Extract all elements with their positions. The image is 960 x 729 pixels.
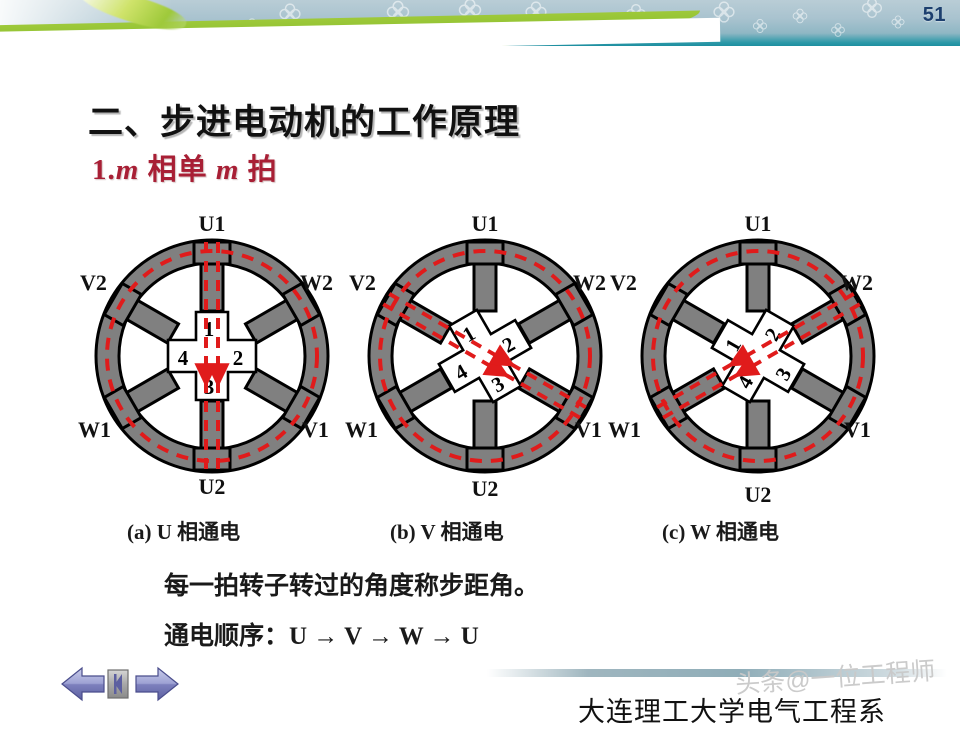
stator-label-u2: U2 (472, 476, 499, 501)
rotor-tooth-2: 2 (233, 346, 244, 370)
caption-c: (c) W 相通电 (662, 516, 779, 546)
stator-label-u2: U2 (745, 482, 772, 506)
motor-diagram-c: 1 2 3 4 U1 U2 V2 W2 W1 V1 (608, 206, 908, 506)
motor-diagram-b: 1 2 3 4 U1 U2 V2 W2 W1 V1 (335, 206, 635, 506)
stator-label-u1: U1 (199, 211, 226, 236)
next-slide-icon[interactable] (136, 668, 178, 700)
stator-label-w2: W2 (840, 270, 873, 295)
body-line-step-angle: 每一拍转子转过的角度称步距角。 (164, 566, 539, 602)
page-number: 51 (923, 4, 946, 27)
stator-label-v1: V1 (844, 417, 871, 442)
stator-label-w1: W1 (608, 417, 641, 442)
stator-label-v1: V1 (575, 417, 602, 442)
stator-label-u1: U1 (745, 211, 772, 236)
stator-label-w2: W2 (300, 270, 333, 295)
body-line-sequence: 通电顺序：U → V → W → U (164, 616, 479, 652)
stator-label-w1: W1 (345, 417, 378, 442)
slide-navigation[interactable] (60, 662, 180, 706)
figure-captions: (a) U 相通电 (b) V 相通电 (c) W 相通电 (0, 516, 960, 550)
subtitle-suffix: 拍 (248, 154, 278, 186)
motor-diagram-a: 1 2 3 4 U1 U2 V2 W2 W1 V1 (62, 206, 362, 506)
stator-label-v2: V2 (80, 270, 107, 295)
motor-figures-row: 1 2 3 4 U1 U2 V2 W2 W1 V1 (0, 206, 960, 506)
previous-slide-icon[interactable] (62, 668, 104, 700)
stator-label-u2: U2 (199, 474, 226, 499)
stator-label-v1: V1 (302, 417, 329, 442)
subtitle-mid: 相单 (148, 154, 208, 186)
stator-label-v2: V2 (349, 270, 376, 295)
subtitle-var-m2: m (216, 154, 240, 186)
subtitle-var-m1: m (116, 154, 140, 186)
stator-label-w2: W2 (573, 270, 606, 295)
stator-label-w1: W1 (78, 417, 111, 442)
stator-label-v2: V2 (610, 270, 637, 295)
slide-subtitle: 1.m 相单 m 拍 (92, 146, 278, 188)
rotor-tooth-4: 4 (178, 346, 189, 370)
footer-organization: 大连理工大学电气工程系 (578, 690, 886, 729)
menu-bar-icon (114, 674, 117, 694)
slide-title: 二、步进电动机的工作原理 (88, 94, 520, 145)
stator-label-u1: U1 (472, 211, 499, 236)
caption-b: (b) V 相通电 (390, 516, 504, 546)
header-banner: 51 (0, 0, 960, 46)
subtitle-index: 1. (92, 154, 116, 186)
caption-a: (a) U 相通电 (127, 516, 240, 546)
